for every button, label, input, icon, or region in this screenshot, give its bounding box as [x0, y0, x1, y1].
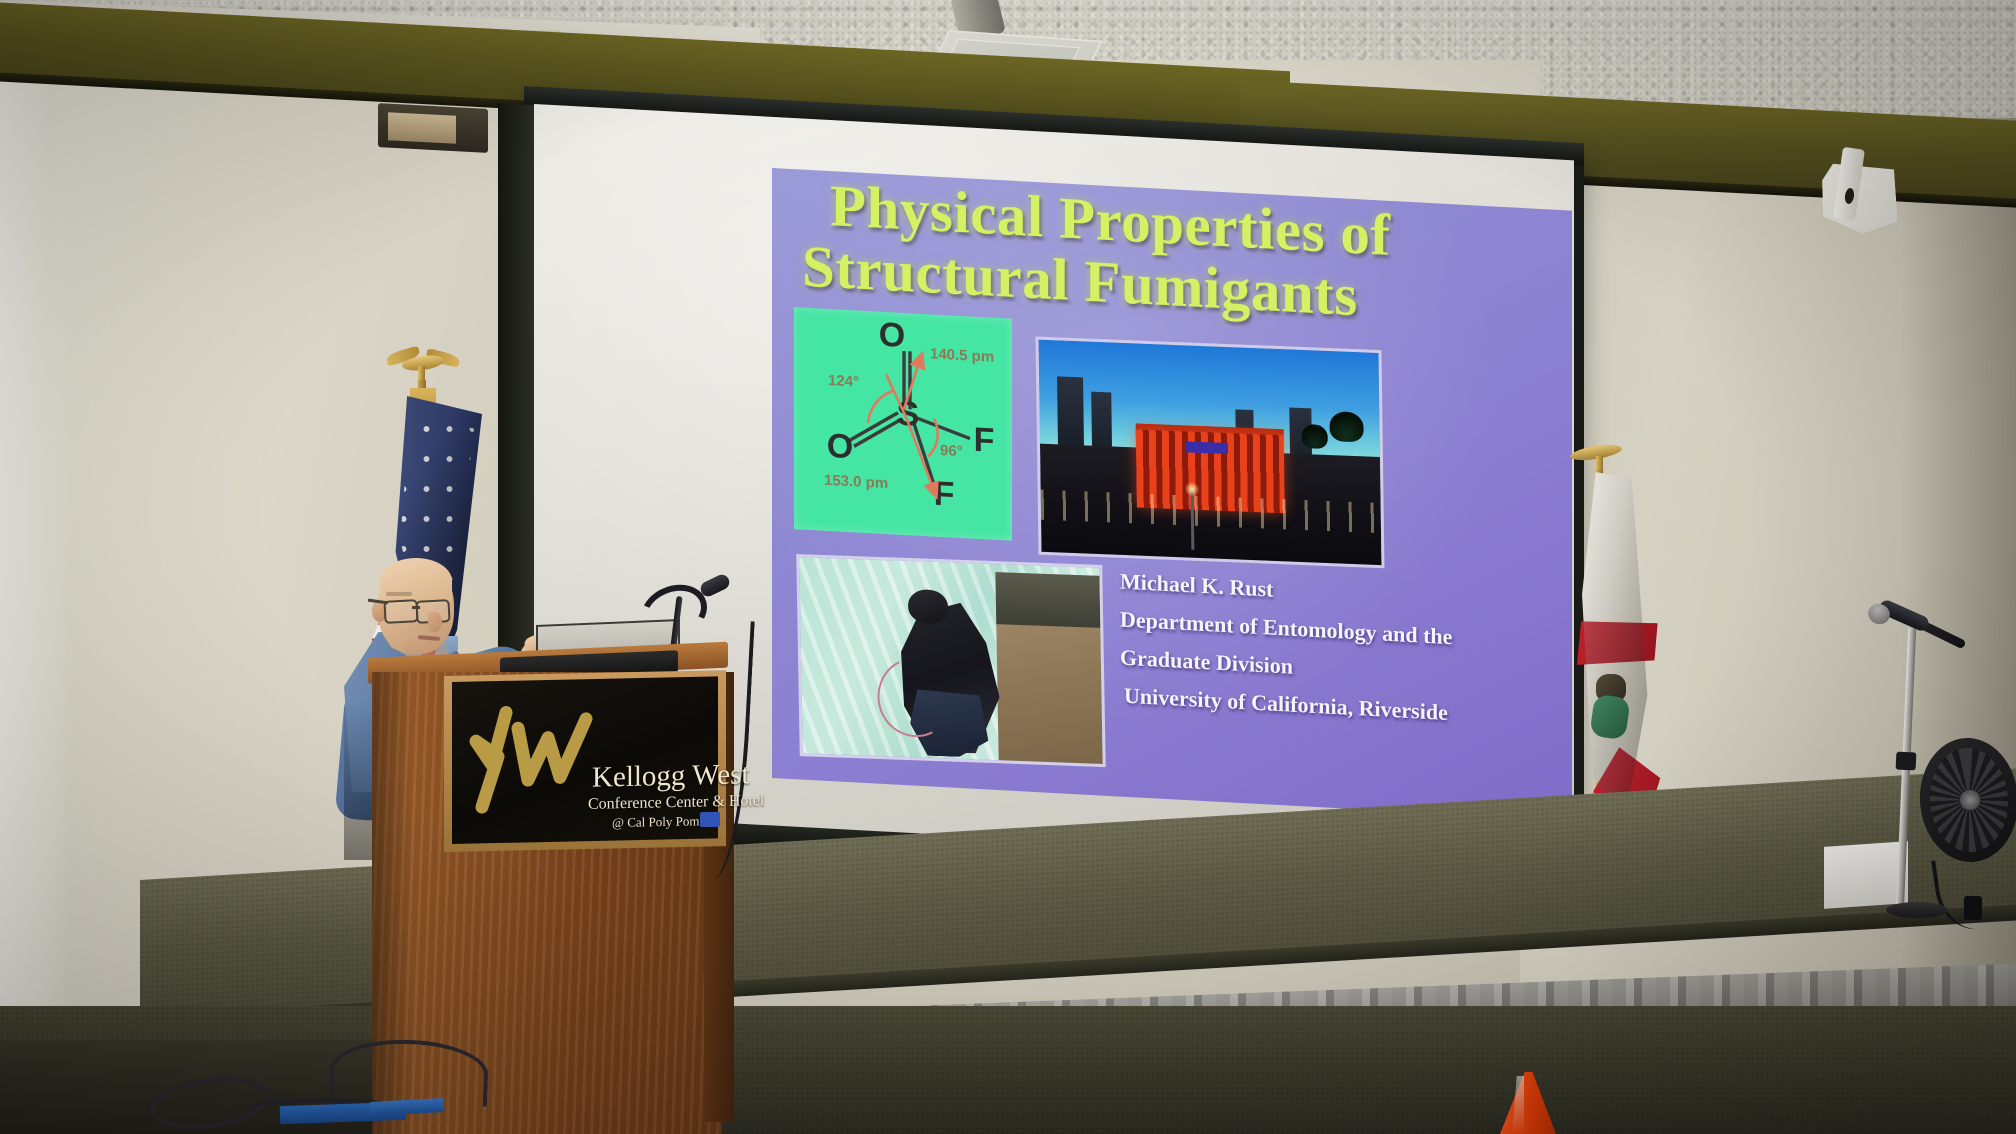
palm-tree-icon — [1329, 411, 1363, 442]
speaker-eyebrow — [386, 592, 412, 596]
bond-angle-label-2: 96° — [940, 442, 963, 460]
palm-tree-icon — [1302, 424, 1328, 449]
bond-length-label-2: 153.0 pm — [824, 472, 888, 492]
eyeglasses-left-lens-icon — [383, 599, 418, 624]
svg-text:O: O — [827, 427, 853, 466]
tarp-background-structures — [995, 572, 1100, 628]
lamp-glow-icon — [1184, 481, 1199, 497]
podium-sign-subtitle: Conference Center & Hotel — [588, 792, 764, 814]
slide-photo-city — [1035, 336, 1384, 568]
svg-text:O: O — [879, 316, 905, 355]
podium-sign-name: Kellogg West — [592, 758, 749, 794]
speaker-scalp — [380, 558, 452, 604]
conference-room-photo: Physical Properties of Structural Fumiga… — [0, 0, 2016, 1134]
screen-mount-bracket-face — [388, 112, 456, 144]
cal-poly-badge-icon — [700, 812, 720, 827]
slide-photo-tarp — [796, 554, 1105, 767]
microphone-stand-clutch[interactable] — [1896, 752, 1917, 771]
fan-hub-icon — [1960, 790, 1980, 810]
svg-text:F: F — [934, 475, 955, 514]
bond-angle-label-1: 124° — [828, 372, 859, 391]
tarp-worker-head — [908, 589, 949, 624]
eyeglasses-bridge-icon — [412, 606, 420, 609]
speaker-nose — [428, 612, 442, 632]
projected-slide: Physical Properties of Structural Fumiga… — [772, 168, 1572, 821]
molecule-diagram: O O S F F — [794, 307, 1012, 541]
tent-sign — [1186, 441, 1228, 454]
fan-plug-icon — [1964, 896, 1982, 920]
bond-length-label-1: 140.5 pm — [930, 345, 994, 365]
kellogg-west-logo-icon — [462, 693, 600, 824]
wall-left-highlight — [0, 30, 70, 1134]
microphone-stand-base — [1886, 902, 1948, 918]
svg-text:F: F — [974, 421, 995, 460]
